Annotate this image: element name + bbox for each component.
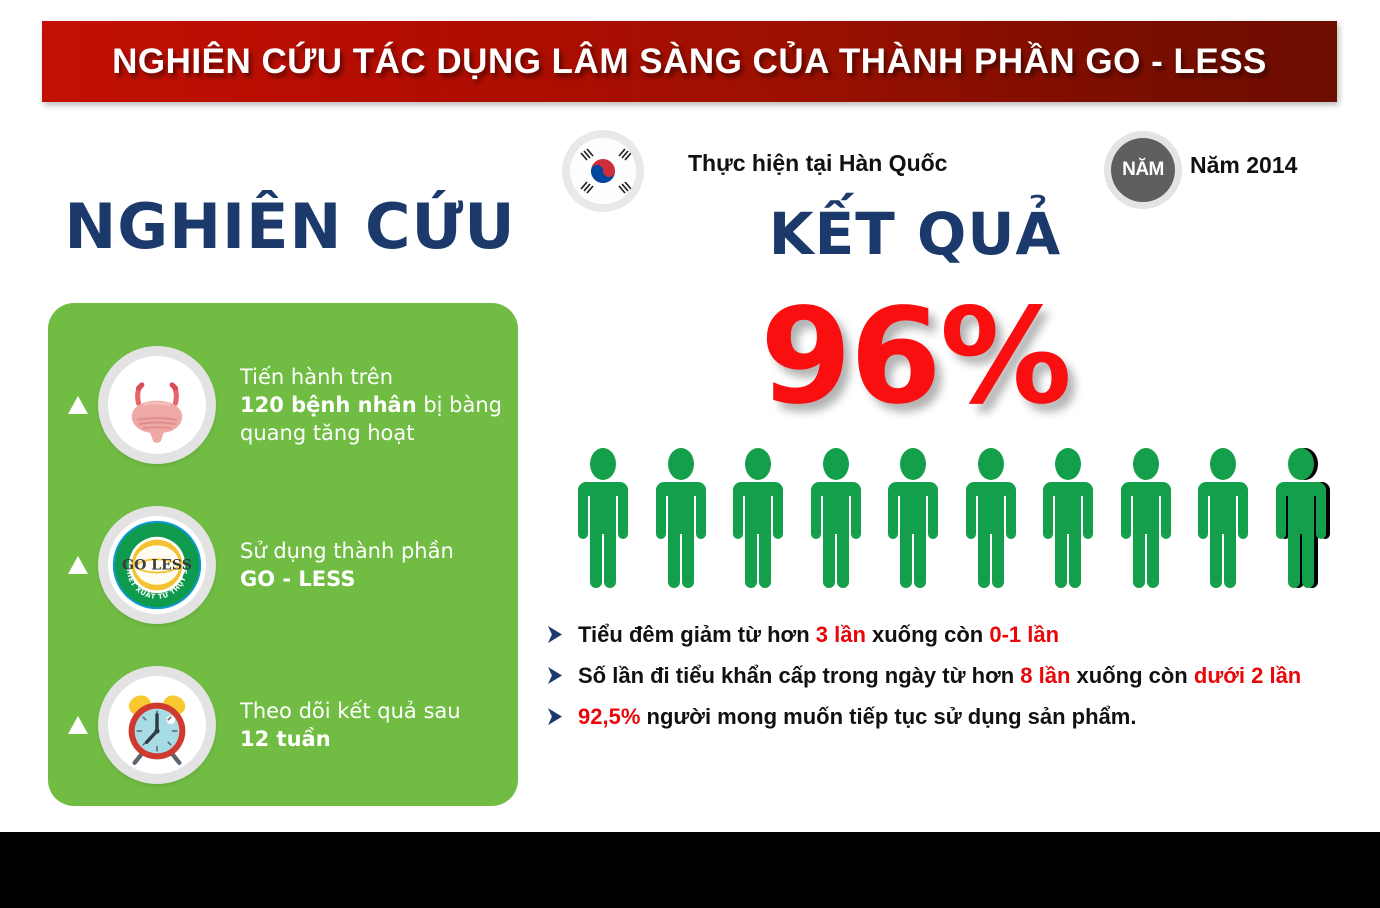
- study-item-text: Theo dõi kết quả sau 12 tuần: [240, 697, 461, 753]
- person-icon: [1270, 446, 1332, 590]
- result-bullet: Số lần đi tiểu khẩn cấp trong ngày từ hơ…: [548, 661, 1348, 690]
- research-panel: Tiến hành trên 120 bệnh nhân bị bàng qua…: [48, 303, 518, 806]
- result-heading: KẾT QUẢ: [700, 200, 1130, 268]
- bullet-plain-text: người mong muốn tiếp tục sử dụng sản phẩ…: [640, 704, 1136, 729]
- result-percent: 96%: [700, 280, 1130, 434]
- person-icon: [805, 446, 867, 590]
- bottom-bar: [0, 832, 1380, 908]
- highlight-value: dưới 2 lần: [1194, 663, 1301, 688]
- study-item-text: Sử dụng thành phần GO - LESS: [240, 537, 454, 593]
- result-bullet-text: 92,5% người mong muốn tiếp tục sử dụng s…: [578, 702, 1136, 731]
- study-item-duration: Theo dõi kết quả sau 12 tuần: [48, 645, 518, 805]
- study-item-text: Tiến hành trên 120 bệnh nhân bị bàng qua…: [240, 363, 502, 447]
- year-label: Năm 2014: [1190, 152, 1297, 179]
- person-icon: [650, 446, 712, 590]
- header-banner: NGHIÊN CỨU TÁC DỤNG LÂM SÀNG CỦA THÀNH P…: [42, 21, 1337, 102]
- bullet-plain-text: Tiểu đêm giảm từ hơn: [578, 622, 816, 647]
- highlight-value: 8 lần: [1020, 663, 1070, 688]
- study-item-patients: Tiến hành trên 120 bệnh nhân bị bàng qua…: [48, 325, 518, 485]
- arrow-right-icon: [548, 626, 562, 643]
- results-bullet-list: Tiểu đêm giảm từ hơn 3 lần xuống còn 0-1…: [548, 620, 1348, 743]
- person-icon: [727, 446, 789, 590]
- study-bold-1: GO - LESS: [240, 567, 355, 591]
- study-line-3: quang tăng hoạt: [240, 421, 415, 445]
- korea-flag-badge: [562, 130, 644, 212]
- icon-disc-goless: GO LESS CHIẾT XUẤT TỪ THỤY SỸ: [98, 506, 216, 624]
- bladder-icon: [115, 363, 199, 447]
- person-icon: [882, 446, 944, 590]
- korea-flag-icon: [570, 138, 636, 204]
- study-bold-1: 120 bệnh nhân: [240, 393, 417, 417]
- bullet-plain-text: xuống còn: [866, 622, 989, 647]
- result-bullet: 92,5% người mong muốn tiếp tục sử dụng s…: [548, 702, 1348, 731]
- research-heading: NGHIÊN CỨU: [60, 190, 520, 263]
- arrow-right-icon: [548, 667, 562, 684]
- study-bold-1: 12 tuần: [240, 727, 331, 751]
- alarm-clock-icon: [114, 682, 200, 768]
- year-badge: NĂM: [1104, 131, 1182, 209]
- icon-disc-bladder: [98, 346, 216, 464]
- result-bullet-text: Số lần đi tiểu khẩn cấp trong ngày từ hơ…: [578, 661, 1301, 690]
- study-rest-1: bị bàng: [417, 393, 502, 417]
- year-badge-text: NĂM: [1111, 138, 1175, 202]
- people-pictogram-row: [572, 440, 1332, 590]
- person-icon: [1192, 446, 1254, 590]
- result-bullet-text: Tiểu đêm giảm từ hơn 3 lần xuống còn 0-1…: [578, 620, 1059, 649]
- triangle-marker-icon: [68, 396, 88, 414]
- highlight-value: 92,5%: [578, 704, 640, 729]
- person-icon: [572, 446, 634, 590]
- person-icon: [1037, 446, 1099, 590]
- study-line-1: Tiến hành trên: [240, 365, 393, 389]
- bullet-plain-text: xuống còn: [1070, 663, 1193, 688]
- highlight-value: 3 lần: [816, 622, 866, 647]
- highlight-value: 0-1 lần: [989, 622, 1059, 647]
- study-item-ingredient: GO LESS CHIẾT XUẤT TỪ THỤY SỸ Sử dụng th…: [48, 485, 518, 645]
- arrow-right-icon: [548, 708, 562, 725]
- go-less-logo-icon: GO LESS CHIẾT XUẤT TỪ THỤY SỸ: [110, 518, 204, 612]
- person-icon: [960, 446, 1022, 590]
- icon-disc-clock: [98, 666, 216, 784]
- page-title: NGHIÊN CỨU TÁC DỤNG LÂM SÀNG CỦA THÀNH P…: [42, 42, 1337, 82]
- bullet-plain-text: Số lần đi tiểu khẩn cấp trong ngày từ hơ…: [578, 663, 1020, 688]
- person-icon: [1115, 446, 1177, 590]
- triangle-marker-icon: [68, 716, 88, 734]
- triangle-marker-icon: [68, 556, 88, 574]
- result-bullet: Tiểu đêm giảm từ hơn 3 lần xuống còn 0-1…: [548, 620, 1348, 649]
- study-line-1: Sử dụng thành phần: [240, 539, 454, 563]
- study-line-1: Theo dõi kết quả sau: [240, 699, 461, 723]
- country-label: Thực hiện tại Hàn Quốc: [688, 150, 947, 177]
